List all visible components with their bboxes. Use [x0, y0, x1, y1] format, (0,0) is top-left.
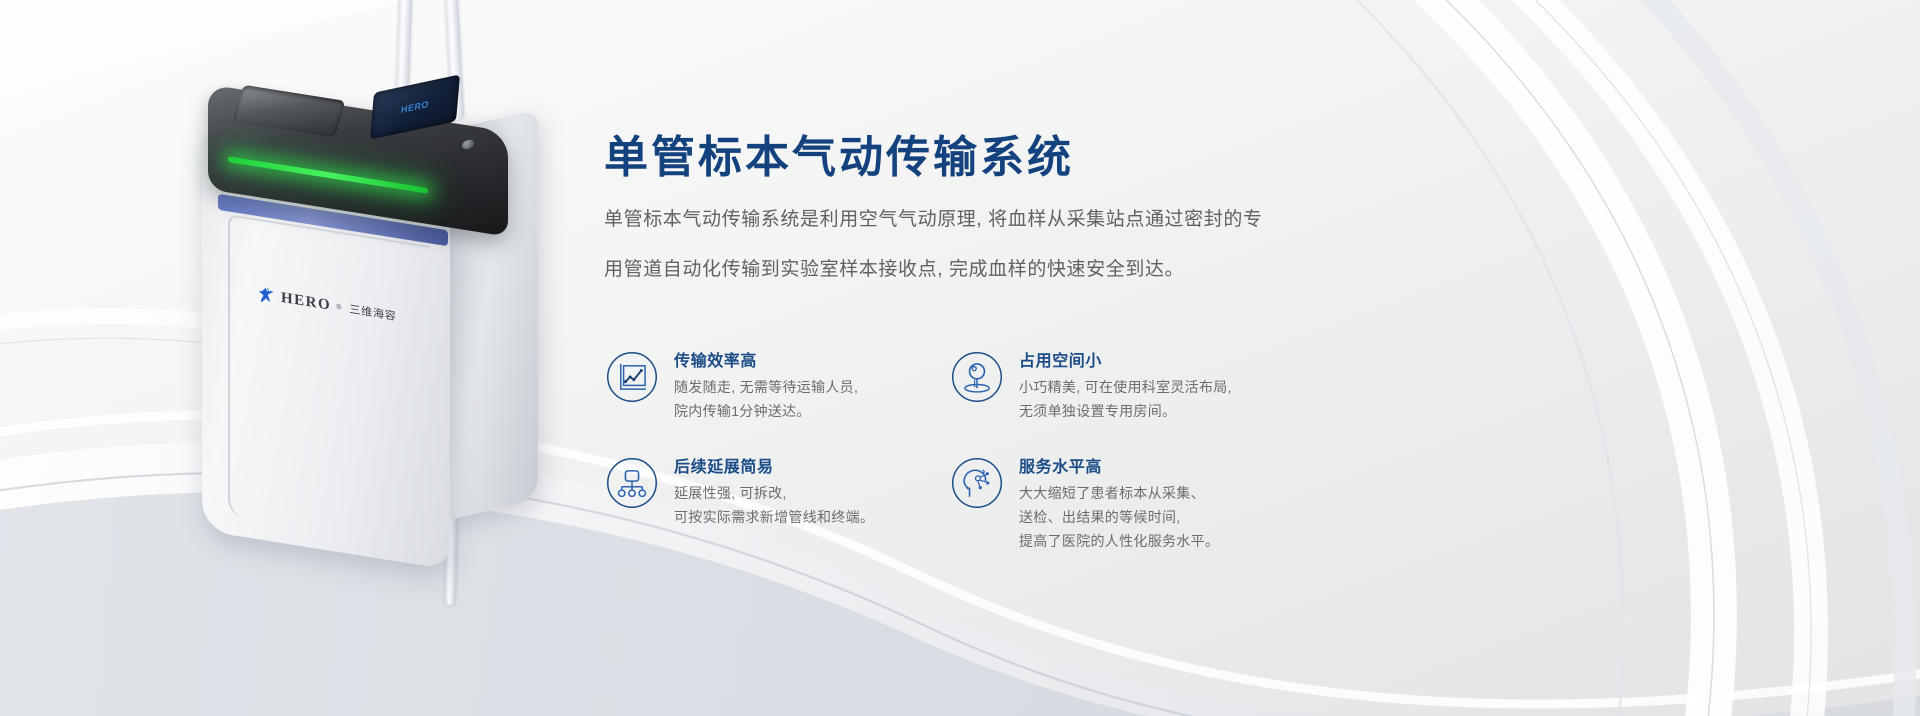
space-pin-icon — [949, 349, 1005, 405]
hero-butterfly-icon — [256, 284, 276, 307]
feature-row-top: 传输效率高 随发随走, 无需等待运输人员, 院内传输1分钟送达。 占用 — [604, 345, 1294, 423]
registered-mark: ® — [336, 303, 341, 311]
feature-title: 占用空间小 — [1019, 347, 1232, 371]
feature-item-small-footprint: 占用空间小 小巧精美, 可在使用科室灵活布局, 无须单独设置专用房间。 — [949, 345, 1294, 423]
banner-content: 单管标本气动传输系统 单管标本气动传输系统是利用空气气动原理, 将血样从采集站点… — [604, 0, 1884, 716]
feature-description: 随发随走, 无需等待运输人员, 院内传输1分钟送达。 — [674, 375, 858, 423]
feature-row-bottom: 后续延展简易 延展性强, 可拆改, 可按实际需求新增管线和终端。 — [604, 451, 1294, 553]
product-banner: HERO HERO ® 三维海容 单管标本气动传输系统 单管标本气动传输系统是利… — [0, 0, 1920, 716]
feature-item-transfer-efficiency: 传输效率高 随发随走, 无需等待运输人员, 院内传输1分钟送达。 — [604, 345, 949, 423]
feature-item-service-level: 服务水平高 大大缩短了患者标本从采集、 送检、出结果的等候时间, 提高了医院的人… — [949, 451, 1294, 553]
device-panel-seam — [228, 214, 430, 548]
page-title: 单管标本气动传输系统 — [604, 121, 1074, 185]
feature-description: 大大缩短了患者标本从采集、 送检、出结果的等候时间, 提高了医院的人性化服务水平… — [1019, 481, 1219, 553]
feature-text: 传输效率高 随发随走, 无需等待运输人员, 院内传输1分钟送达。 — [674, 345, 858, 423]
feature-description: 小巧精美, 可在使用科室灵活布局, 无须单独设置专用房间。 — [1019, 375, 1232, 423]
feature-text: 占用空间小 小巧精美, 可在使用科室灵活布局, 无须单独设置专用房间。 — [1019, 345, 1232, 423]
feature-row-gap — [604, 423, 1294, 451]
feature-title: 传输效率高 — [674, 347, 858, 371]
network-tree-icon — [604, 455, 660, 511]
feature-text: 后续延展简易 延展性强, 可拆改, 可按实际需求新增管线和终端。 — [674, 451, 874, 529]
feature-title: 后续延展简易 — [674, 453, 874, 477]
feature-grid: 传输效率高 随发随走, 无需等待运输人员, 院内传输1分钟送达。 占用 — [604, 345, 1294, 553]
product-image: HERO HERO ® 三维海容 — [150, 0, 570, 620]
screen-logo-label: HERO — [401, 99, 430, 115]
feature-item-easy-extension: 后续延展简易 延展性强, 可拆改, 可按实际需求新增管线和终端。 — [604, 451, 949, 553]
intro-paragraph: 单管标本气动传输系统是利用空气气动原理, 将血样从采集站点通过密封的专用管道自动… — [604, 195, 1264, 295]
feature-description: 延展性强, 可拆改, 可按实际需求新增管线和终端。 — [674, 481, 874, 529]
feature-text: 服务水平高 大大缩短了患者标本从采集、 送检、出结果的等候时间, 提高了医院的人… — [1019, 451, 1219, 553]
chart-growth-icon — [604, 349, 660, 405]
smart-head-icon — [949, 455, 1005, 511]
feature-title: 服务水平高 — [1019, 453, 1219, 477]
